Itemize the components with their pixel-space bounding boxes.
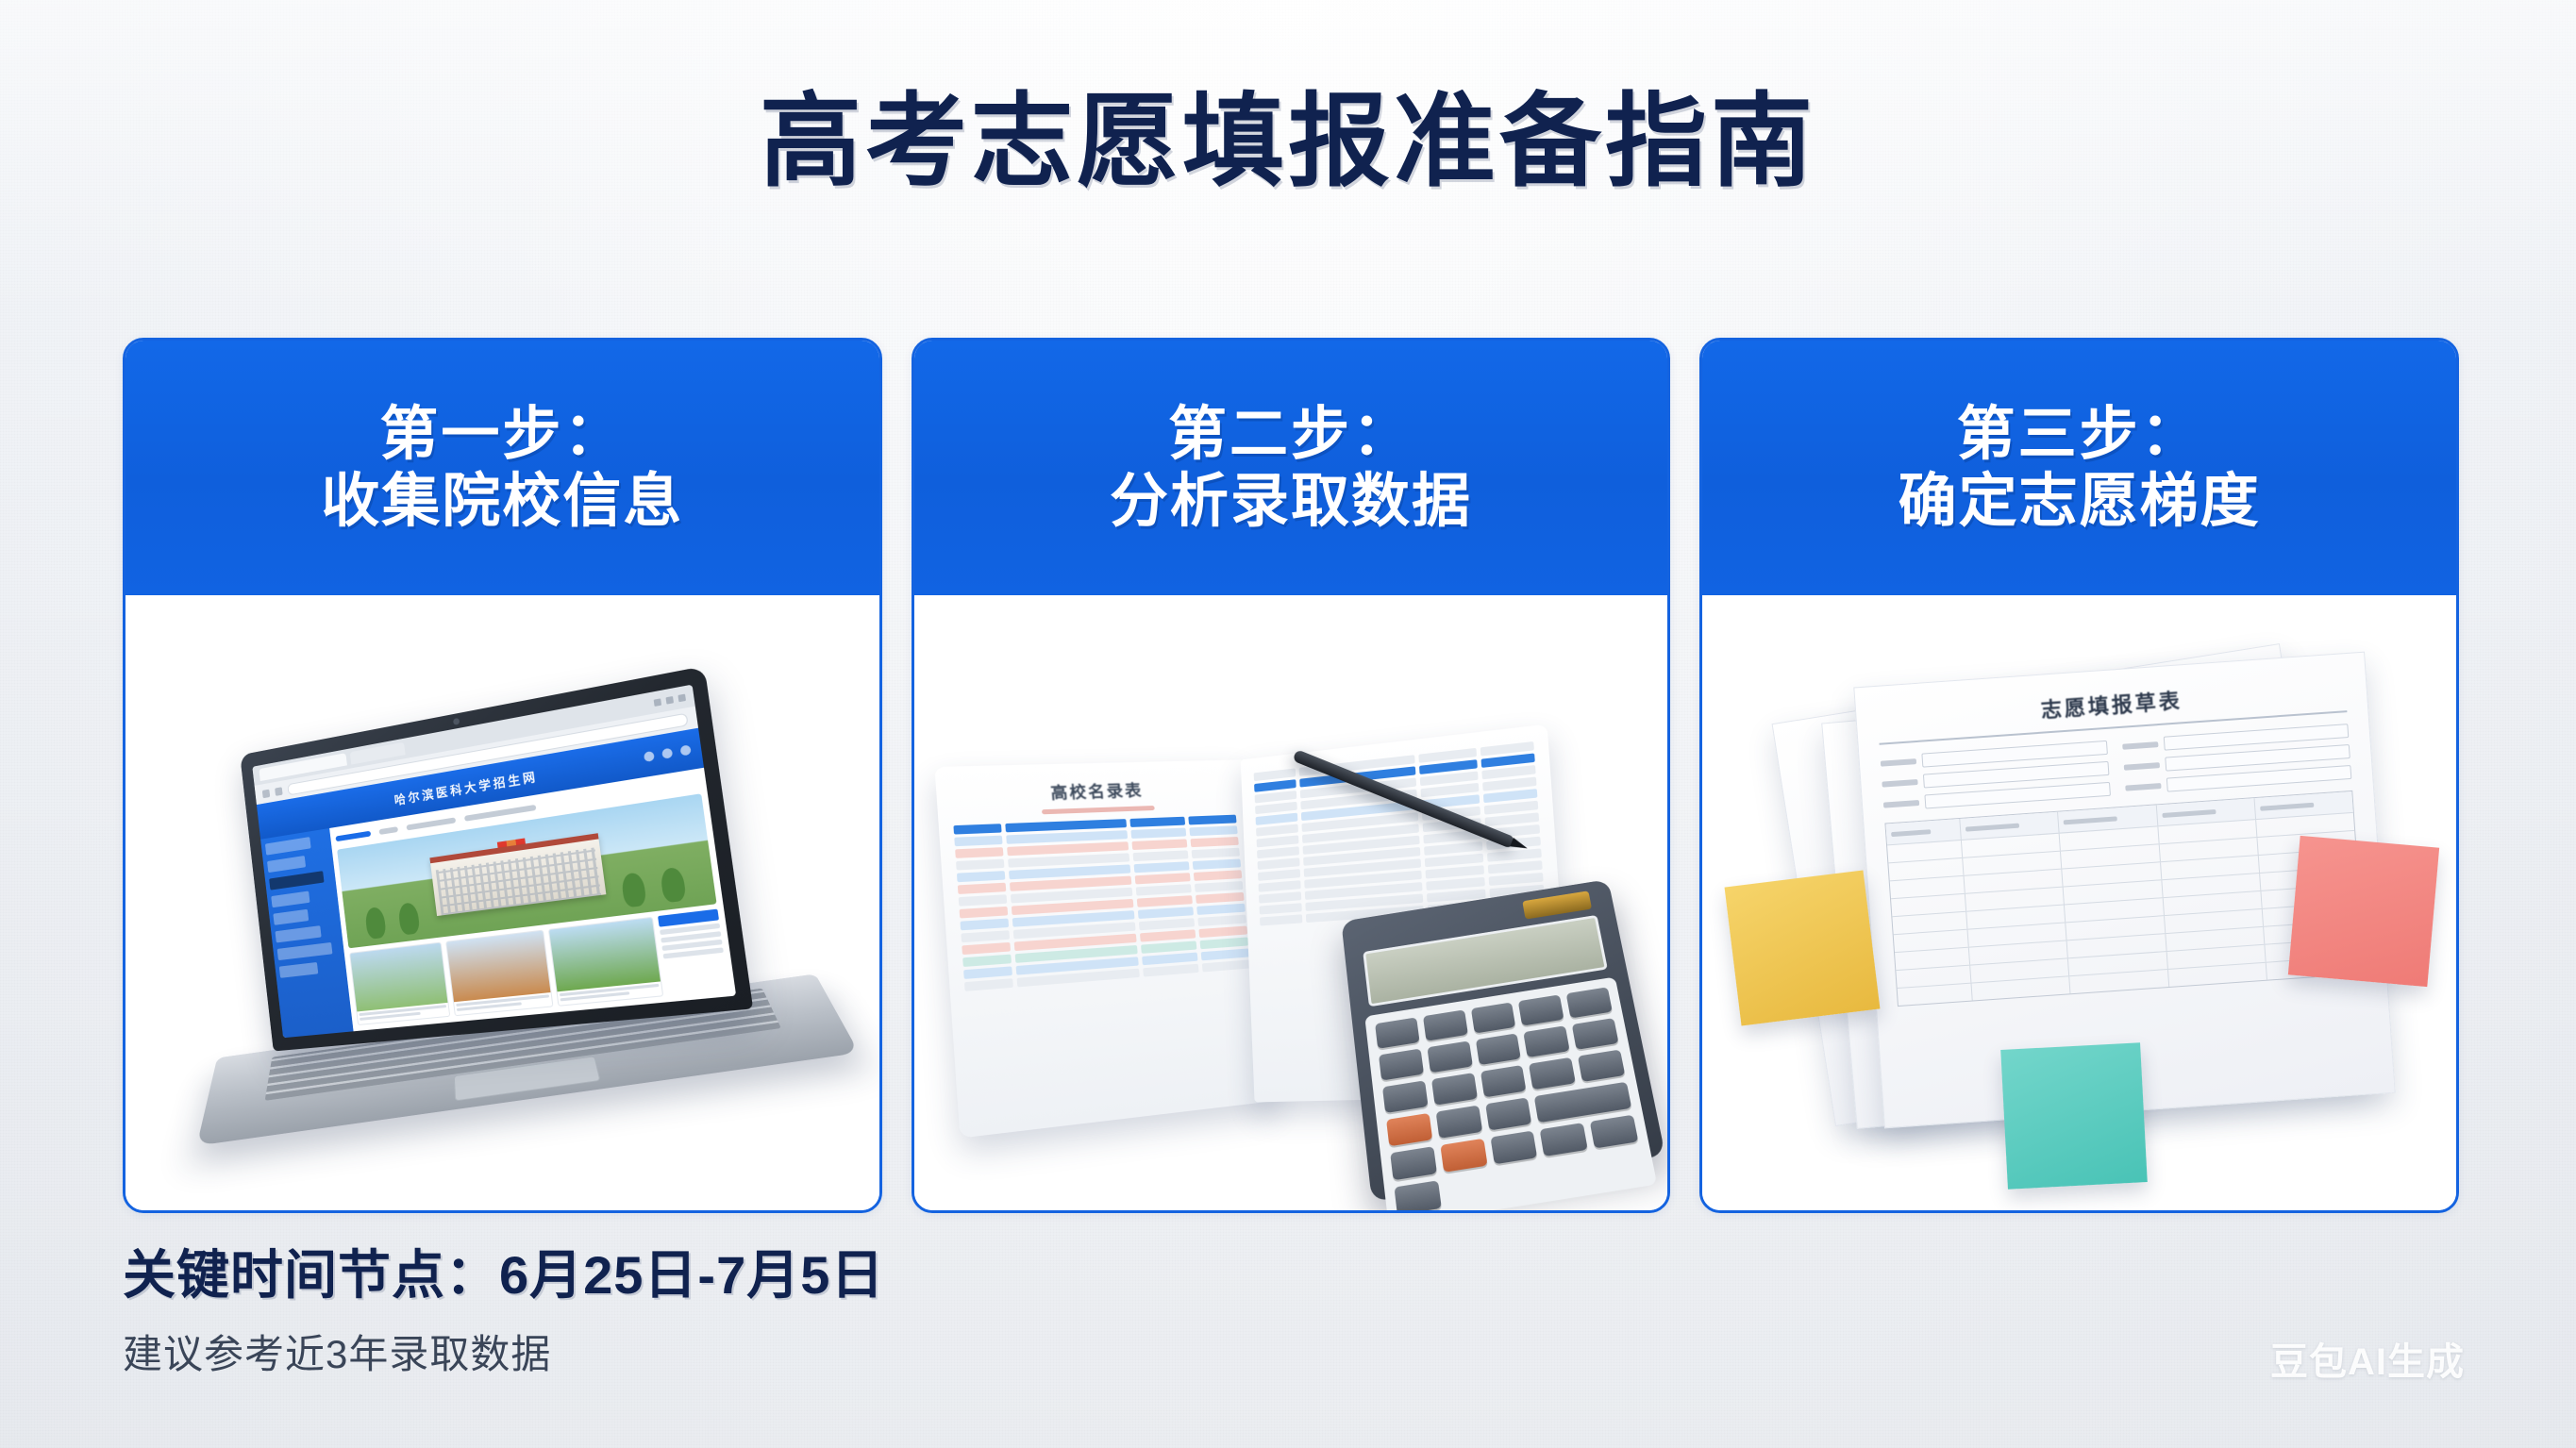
calculator-illustration <box>1342 880 1666 1203</box>
tree-shape <box>398 902 421 936</box>
calc-key <box>1379 1049 1424 1081</box>
step-card-1-illustration: 哈尔滨医科大学招生网 <box>125 595 879 1210</box>
tree-shape <box>364 907 387 940</box>
form-field-column-left <box>1881 741 2111 812</box>
calc-key <box>1395 1181 1442 1210</box>
field-label <box>2125 783 2161 791</box>
step-card-3[interactable]: 第三步： 确定志愿梯度 志愿填报草表 <box>1699 338 2459 1213</box>
news-card <box>548 917 663 1007</box>
advice-text: 建议参考近3年录取数据 <box>123 1323 884 1380</box>
news-thumbnail <box>350 943 447 1012</box>
field-label <box>1881 758 1916 767</box>
calc-key <box>1391 1147 1438 1181</box>
step-card-2-topic-label: 分析录取数据 <box>1110 471 1472 532</box>
calc-key <box>1476 1034 1522 1066</box>
field-label <box>1883 800 1919 808</box>
step-card-1-topic-label: 收集院校信息 <box>321 471 683 532</box>
calc-key <box>1540 1123 1588 1157</box>
field-label <box>1882 779 1917 788</box>
calc-key <box>1485 1098 1532 1131</box>
calc-key <box>1578 1050 1625 1082</box>
book-page-title: 高校名录表 <box>950 774 1233 807</box>
calc-key <box>1471 1003 1516 1034</box>
laptop-lid: 哈尔滨医科大学招生网 <box>241 666 754 1052</box>
calc-key <box>1423 1010 1468 1041</box>
calculator-keypad <box>1365 977 1658 1210</box>
yellow-sticky-note <box>1725 870 1881 1025</box>
laptop-screen: 哈尔滨医科大学招生网 <box>253 685 737 1039</box>
browser-window-controls <box>654 693 686 706</box>
step-card-2-header: 第二步： 分析录取数据 <box>914 341 1668 595</box>
calc-key <box>1428 1041 1473 1074</box>
step-card-2-step-label: 第二步： <box>1168 404 1413 465</box>
teal-sticky-note <box>2000 1042 2148 1190</box>
calc-key <box>1519 995 1565 1026</box>
step-card-3-step-label: 第三步： <box>1957 404 2202 465</box>
sidebar-item <box>279 962 319 978</box>
pink-sticky-note <box>2288 836 2439 987</box>
step-card-1-header: 第一步： 收集院校信息 <box>125 341 879 595</box>
step-card-2[interactable]: 第二步： 分析录取数据 高校名录表 <box>912 338 1671 1213</box>
field-label <box>2123 762 2159 771</box>
calc-key <box>1572 1018 1619 1050</box>
tree-shape <box>621 873 647 908</box>
news-card <box>349 942 450 1026</box>
step-card-1[interactable]: 第一步： 收集院校信息 <box>123 338 882 1213</box>
book-subtitle-bar <box>1041 806 1154 814</box>
main-building-shape <box>430 834 606 917</box>
webcam-icon <box>453 718 460 725</box>
sidebar-item <box>274 909 309 925</box>
calc-key <box>1382 1081 1428 1114</box>
footer: 关键时间节点：6月25日-7月5日 建议参考近3年录取数据 <box>123 1233 884 1380</box>
site-header-icons <box>644 744 692 762</box>
step-card-3-illustration: 志愿填报草表 <box>1702 595 2456 1210</box>
field-label <box>2122 741 2158 750</box>
calc-key <box>1376 1018 1420 1049</box>
news-thumbnail <box>447 931 551 1003</box>
reload-icon <box>275 787 283 796</box>
sidebar-item <box>276 925 322 942</box>
solar-panel <box>1523 891 1593 920</box>
calc-key <box>1431 1074 1478 1107</box>
sidebar-item <box>277 942 333 960</box>
calc-key <box>1480 1065 1527 1098</box>
calc-key-accent <box>1386 1113 1432 1146</box>
book-left-page: 高校名录表 <box>934 759 1276 1138</box>
news-card <box>445 930 553 1017</box>
calc-key <box>1436 1106 1482 1139</box>
sidebar-item <box>267 856 306 873</box>
calc-key <box>1590 1115 1638 1149</box>
page-title: 高考志愿填报准备指南 <box>0 87 2576 197</box>
step-card-3-topic-label: 确定志愿梯度 <box>1899 471 2261 532</box>
sidebar-item <box>272 891 310 908</box>
sidebar-item-selected <box>269 871 324 890</box>
sidebar-item <box>265 837 311 856</box>
step-card-3-header: 第三步： 确定志愿梯度 <box>1702 341 2456 595</box>
steps-container: 第一步： 收集院校信息 <box>123 338 2459 1213</box>
back-arrow-icon <box>262 789 270 798</box>
news-sidebar-list <box>658 909 728 996</box>
calc-key <box>1490 1131 1538 1165</box>
news-thumbnail <box>549 918 661 991</box>
calc-key <box>1524 1026 1570 1058</box>
laptop-illustration: 哈尔滨医科大学招生网 <box>175 668 830 1163</box>
tree-shape <box>661 867 688 904</box>
calc-key <box>1530 1057 1577 1090</box>
watermark: 豆包AI生成 <box>2270 1331 2465 1386</box>
calc-key <box>1566 988 1613 1019</box>
calc-key-accent <box>1441 1139 1488 1173</box>
form-field-column-right <box>2121 724 2351 795</box>
key-dates-text: 关键时间节点：6月25日-7月5日 <box>123 1233 884 1309</box>
step-card-1-step-label: 第一步： <box>379 404 625 465</box>
step-card-2-illustration: 高校名录表 <box>914 595 1668 1210</box>
book-data-table <box>953 814 1250 990</box>
